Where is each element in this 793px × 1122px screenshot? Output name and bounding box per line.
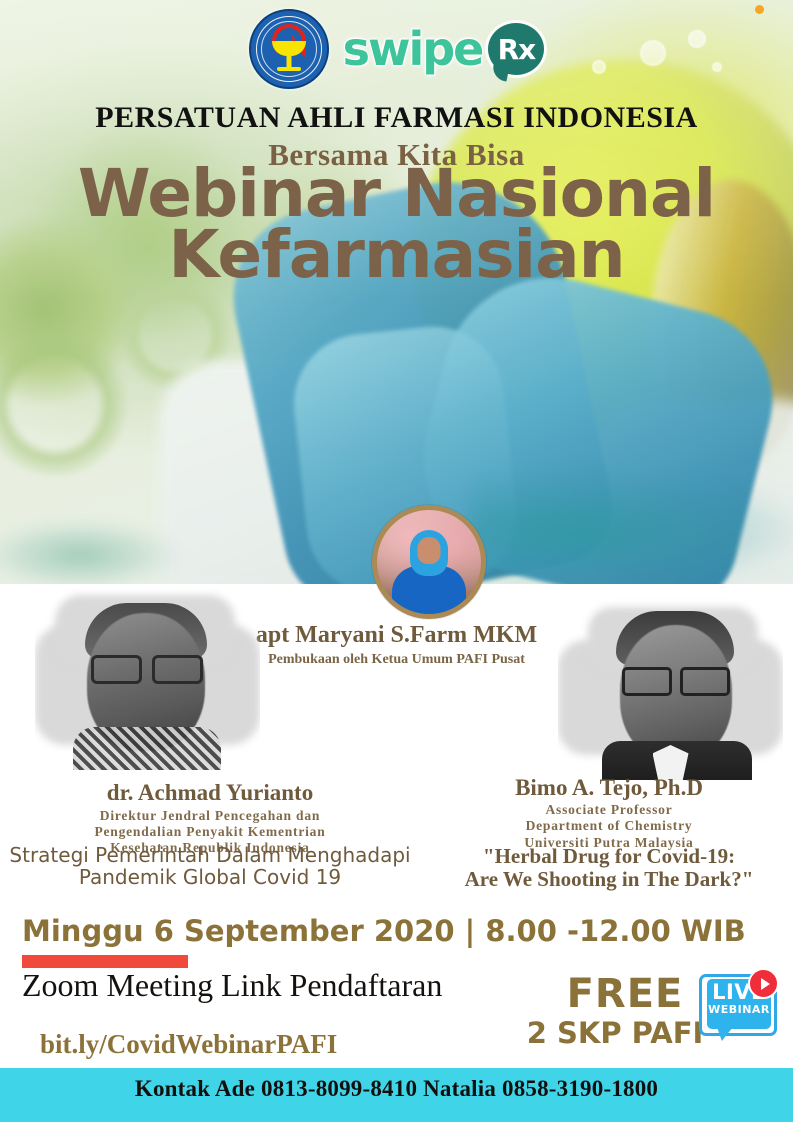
speaker-topic-left: Strategi Pemerintah Dalam Menghadapi Pan…	[0, 845, 420, 888]
speaker-photo-left	[35, 585, 260, 770]
pafi-base-icon	[277, 67, 301, 71]
registration-link[interactable]: bit.ly/CovidWebinarPAFI	[40, 1029, 337, 1060]
badge-webinar-label: WEBINAR	[707, 1004, 771, 1015]
speaker-topic-right: "Herbal Drug for Covid-19: Are We Shooti…	[425, 845, 793, 891]
speaker-affiliation-line: Associate Professor	[425, 802, 793, 818]
page-title: Webinar Nasional Kefarmasian	[0, 163, 793, 286]
speaker-topic-line: "Herbal Drug for Covid-19:	[425, 845, 793, 868]
teal-wisp-decoration	[0, 520, 180, 584]
teal-wisp-decoration	[470, 470, 793, 584]
speaker-photo-right	[558, 595, 783, 780]
rx-label: Rx	[498, 33, 536, 66]
organization-name: PERSATUAN AHLI FARMASI INDONESIA	[0, 101, 793, 135]
rx-bubble-icon: Rx	[488, 23, 544, 75]
speaker-affiliation-line: Pengendalian Penyakit Kementrian	[0, 824, 420, 840]
pafi-logo-icon	[249, 9, 329, 89]
swipe-wordmark: swipe	[343, 22, 483, 76]
host-face-shape	[418, 537, 441, 564]
eyeglasses-icon	[622, 667, 730, 691]
speaker-topic-line: Pandemik Global Covid 19	[0, 867, 420, 889]
registration-label: Zoom Meeting Link Pendaftaran	[22, 967, 442, 1004]
footer-contact: Kontak Ade 0813-8099-8410 Natalia 0858-3…	[0, 1076, 793, 1102]
speaker-batik-shirt	[73, 727, 221, 770]
schedule-date-time: Minggu 6 September 2020 | 8.00 -12.00 WI…	[22, 914, 746, 948]
speaker-affiliation-line: Department of Chemistry	[425, 818, 793, 834]
live-webinar-badge: LIVE WEBINAR	[697, 970, 777, 1046]
swiperx-logo: swipe Rx	[343, 22, 545, 76]
speaker-topic-line: Are We Shooting in The Dark?"	[425, 868, 793, 891]
skp-credits-label: 2 SKP PAFI	[525, 1016, 705, 1050]
price-free-label: FREE	[545, 971, 705, 1017]
play-triangle-icon	[761, 978, 770, 990]
webinar-poster: swipe Rx PERSATUAN AHLI FARMASI INDONESI…	[0, 0, 793, 1122]
logo-row: swipe Rx	[0, 6, 793, 92]
speaker-name-left: dr. Achmad Yurianto	[0, 780, 420, 806]
speaker-topic-line: Strategi Pemerintah Dalam Menghadapi	[0, 845, 420, 867]
speaker-name-right: Bimo A. Tejo, Ph.D	[425, 775, 793, 801]
swipe-dot-icon	[755, 5, 764, 14]
page-title-line2: Kefarmasian	[0, 224, 793, 285]
speaker-affiliation-line: Direktur Jendral Pencegahan dan	[0, 808, 420, 824]
host-avatar	[372, 505, 486, 619]
play-button-icon	[748, 968, 779, 999]
eyeglasses-icon	[91, 655, 203, 679]
